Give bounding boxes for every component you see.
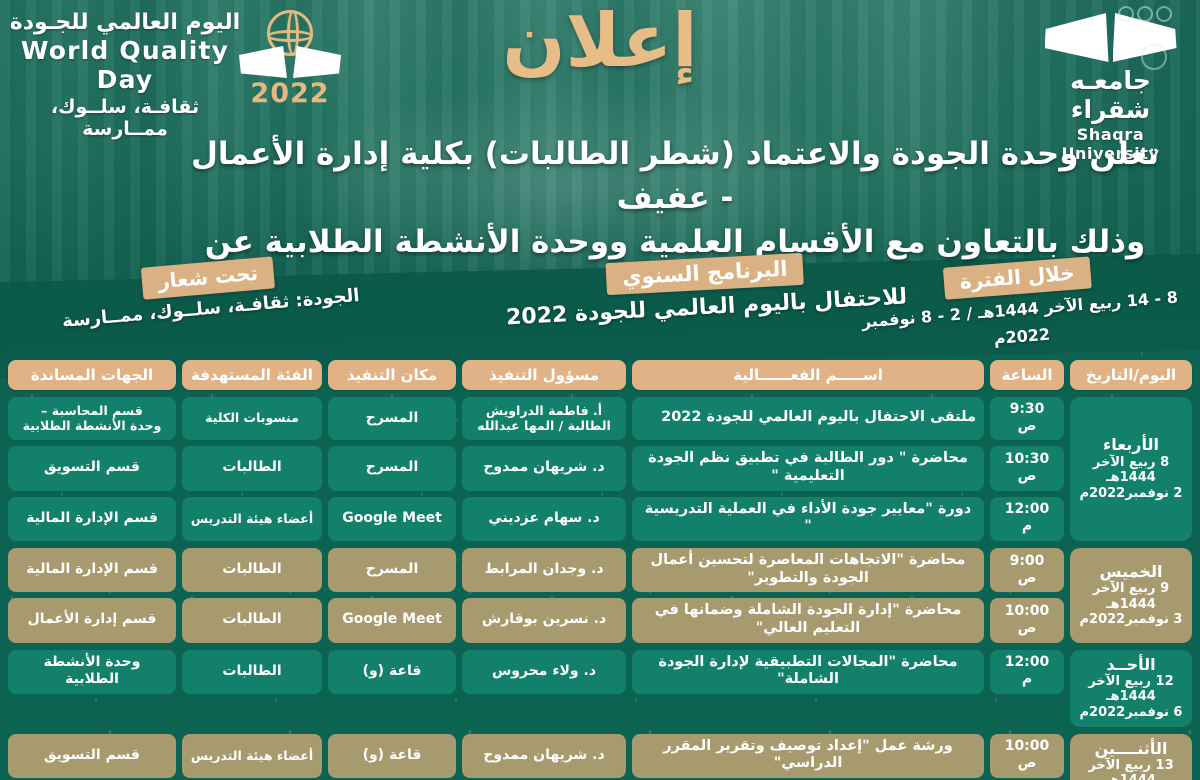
cell-supp: قسم التسويق bbox=[8, 446, 176, 490]
column-header-day: اليوم/التاريخ bbox=[1070, 360, 1192, 390]
event-list: 10:00 صورشة عمل "إعداد توصيف وتقرير المق… bbox=[8, 734, 1064, 780]
column-header-event: اســـــم الفعــــــالية bbox=[632, 360, 984, 390]
event-list: 9:30 صملتقى الاحتفال باليوم العالمي للجو… bbox=[8, 397, 1064, 541]
cell-place: المسرح bbox=[328, 397, 456, 440]
column-header-place: مكان التنفيذ bbox=[328, 360, 456, 390]
cell-event: محاضرة "إدارة الجودة الشاملة وضمانها في … bbox=[632, 598, 984, 642]
event-row: 10:00 صورشة عمل "إعداد توصيف وتقرير المق… bbox=[8, 734, 1064, 778]
event-row: 12:00 ممحاضرة "المجالات التطبيقية لإدارة… bbox=[8, 650, 1064, 694]
cell-supp: قسم الإدارة المالية bbox=[8, 548, 176, 592]
shaqra-university-logo: جامعـه شقراء Shaqra University bbox=[1028, 6, 1193, 134]
cell-target: الطالبات bbox=[182, 650, 322, 694]
column-header-target: الفئة المستهدفة bbox=[182, 360, 322, 390]
cell-event: ورشة عمل "إعداد توصيف وتقرير المقرر الدر… bbox=[632, 734, 984, 778]
cell-event: محاضرة "المجالات التطبيقية لإدارة الجودة… bbox=[632, 650, 984, 694]
cell-place: Google Meet bbox=[328, 497, 456, 541]
cell-time: 10:00 ص bbox=[990, 734, 1064, 778]
hijri-date: 12 ربيع الآخر 1444هـ bbox=[1074, 674, 1188, 705]
table-row: الأحــد12 ربيع الآخر 1444هـ6 نوفمبر2022م… bbox=[8, 650, 1192, 727]
university-name-arabic: جامعـه شقراء bbox=[1028, 66, 1193, 124]
table-body: الأربعاء8 ربيع الآخر 1444هـ2 نوفمبر2022م… bbox=[8, 397, 1192, 780]
day-date-cell: الأحــد12 ربيع الآخر 1444هـ6 نوفمبر2022م bbox=[1070, 650, 1192, 727]
cell-time: 12:00 م bbox=[990, 650, 1064, 694]
gregorian-date: 3 نوفمبر2022م bbox=[1074, 612, 1188, 628]
event-row: 10:30 صمحاضرة " دور الطالبة في تطبيق نظم… bbox=[8, 446, 1064, 490]
event-row: 10:00 صمحاضرة "إدارة الجودة الشاملة وضما… bbox=[8, 598, 1064, 642]
day-name: الخميس bbox=[1074, 562, 1188, 581]
event-list: 9:00 صمحاضرة "الاتجاهات المعاصرة لتحسين … bbox=[8, 548, 1064, 643]
table-row: الخميس9 ربيع الآخر 1444هـ3 نوفمبر2022م9:… bbox=[8, 548, 1192, 643]
announcement-line-1: تعلن وحدة الجودة والاعتماد (شطر الطالبات… bbox=[180, 132, 1170, 220]
column-header-supp: الجهات المساندة bbox=[8, 360, 176, 390]
table-row: الأثنــــين13 ربيع الآخر 1444هـ7 نوفمبر2… bbox=[8, 734, 1192, 780]
cell-time: 10:30 ص bbox=[990, 446, 1064, 490]
cell-target: الطالبات bbox=[182, 548, 322, 592]
gregorian-date: 6 نوفمبر2022م bbox=[1074, 705, 1188, 721]
event-row: 12:00 مدورة "معايير جودة الأداء في العمل… bbox=[8, 497, 1064, 541]
cell-target: أعضاء هيئة التدريس bbox=[182, 497, 322, 541]
cell-place: قاعة (و) bbox=[328, 650, 456, 694]
cell-event: دورة "معايير جودة الأداء في العملية التد… bbox=[632, 497, 984, 541]
hijri-date: 13 ربيع الآخر 1444هـ bbox=[1074, 758, 1188, 780]
event-row: 9:00 صمحاضرة "الاتجاهات المعاصرة لتحسين … bbox=[8, 548, 1064, 592]
cell-time: 12:00 م bbox=[990, 497, 1064, 541]
day-name: الأثنــــين bbox=[1074, 739, 1188, 758]
cell-supp: قسم إدارة الأعمال bbox=[8, 598, 176, 642]
cell-target: أعضاء هيئة التدريس bbox=[182, 734, 322, 778]
cell-target: الطالبات bbox=[182, 598, 322, 642]
cell-place: قاعة (و) bbox=[328, 734, 456, 778]
cell-owner: د. ولاء محروس bbox=[462, 650, 626, 694]
cell-owner: أ. فاطمة الدراويشالطالبة / المها عبدالله bbox=[462, 397, 626, 440]
cell-supp: قسم التسويق bbox=[8, 734, 176, 778]
cell-owner: د. نسرين بوقارش bbox=[462, 598, 626, 642]
day-date-cell: الخميس9 ربيع الآخر 1444هـ3 نوفمبر2022م bbox=[1070, 548, 1192, 643]
wqd-year-label: 2022 bbox=[235, 78, 345, 109]
cell-time: 9:30 ص bbox=[990, 397, 1064, 440]
decorative-ring-icon bbox=[1141, 44, 1167, 70]
university-book-icon bbox=[1045, 12, 1177, 64]
day-name: الأربعاء bbox=[1074, 435, 1188, 454]
cell-owner: د. وجدان المرابط bbox=[462, 548, 626, 592]
cell-place: Google Meet bbox=[328, 598, 456, 642]
cell-place: المسرح bbox=[328, 548, 456, 592]
table-header-row: اليوم/التاريخالساعةاســـــم الفعــــــال… bbox=[8, 360, 1192, 390]
event-list: 12:00 ممحاضرة "المجالات التطبيقية لإدارة… bbox=[8, 650, 1064, 727]
table-row: الأربعاء8 ربيع الآخر 1444هـ2 نوفمبر2022م… bbox=[8, 397, 1192, 541]
cell-time: 9:00 ص bbox=[990, 548, 1064, 592]
cell-time: 10:00 ص bbox=[990, 598, 1064, 642]
cell-place: المسرح bbox=[328, 446, 456, 490]
poster-canvas: اليوم العالمي للجـودة World Quality Day … bbox=[0, 0, 1200, 780]
cell-event: محاضرة "الاتجاهات المعاصرة لتحسين أعمال … bbox=[632, 548, 984, 592]
decorative-rings-icon bbox=[1115, 6, 1172, 26]
cell-supp: وحدة الأنشطة الطلابية bbox=[8, 650, 176, 694]
column-header-owner: مسؤول التنفيذ bbox=[462, 360, 626, 390]
schedule-table: اليوم/التاريخالساعةاســـــم الفعــــــال… bbox=[8, 360, 1192, 780]
event-row: 9:30 صملتقى الاحتفال باليوم العالمي للجو… bbox=[8, 397, 1064, 440]
hijri-date: 9 ربيع الآخر 1444هـ bbox=[1074, 581, 1188, 612]
column-header-time: الساعة bbox=[990, 360, 1064, 390]
announcement-headline: إعلان bbox=[0, 4, 1200, 78]
day-date-cell: الأثنــــين13 ربيع الآخر 1444هـ7 نوفمبر2… bbox=[1070, 734, 1192, 780]
cell-supp: قسم الإدارة المالية bbox=[8, 497, 176, 541]
cell-target: الطالبات bbox=[182, 446, 322, 490]
announcement-body: تعلن وحدة الجودة والاعتماد (شطر الطالبات… bbox=[180, 132, 1170, 264]
cell-owner: د. سهام عزديني bbox=[462, 497, 626, 541]
cell-owner: د. شريهان ممدوح bbox=[462, 734, 626, 778]
cell-event: محاضرة " دور الطالبة في تطبيق نظم الجودة… bbox=[632, 446, 984, 490]
day-date-cell: الأربعاء8 ربيع الآخر 1444هـ2 نوفمبر2022م bbox=[1070, 397, 1192, 541]
cell-owner: د. شريهان ممدوح bbox=[462, 446, 626, 490]
gregorian-date: 2 نوفمبر2022م bbox=[1074, 486, 1188, 502]
cell-supp: قسم المحاسبة –وحدة الأنشطة الطلابية bbox=[8, 397, 176, 440]
day-name: الأحــد bbox=[1074, 655, 1188, 674]
cell-event: ملتقى الاحتفال باليوم العالمي للجودة 202… bbox=[632, 397, 984, 440]
cell-target: منسوبات الكلية bbox=[182, 397, 322, 440]
hijri-date: 8 ربيع الآخر 1444هـ bbox=[1074, 455, 1188, 486]
